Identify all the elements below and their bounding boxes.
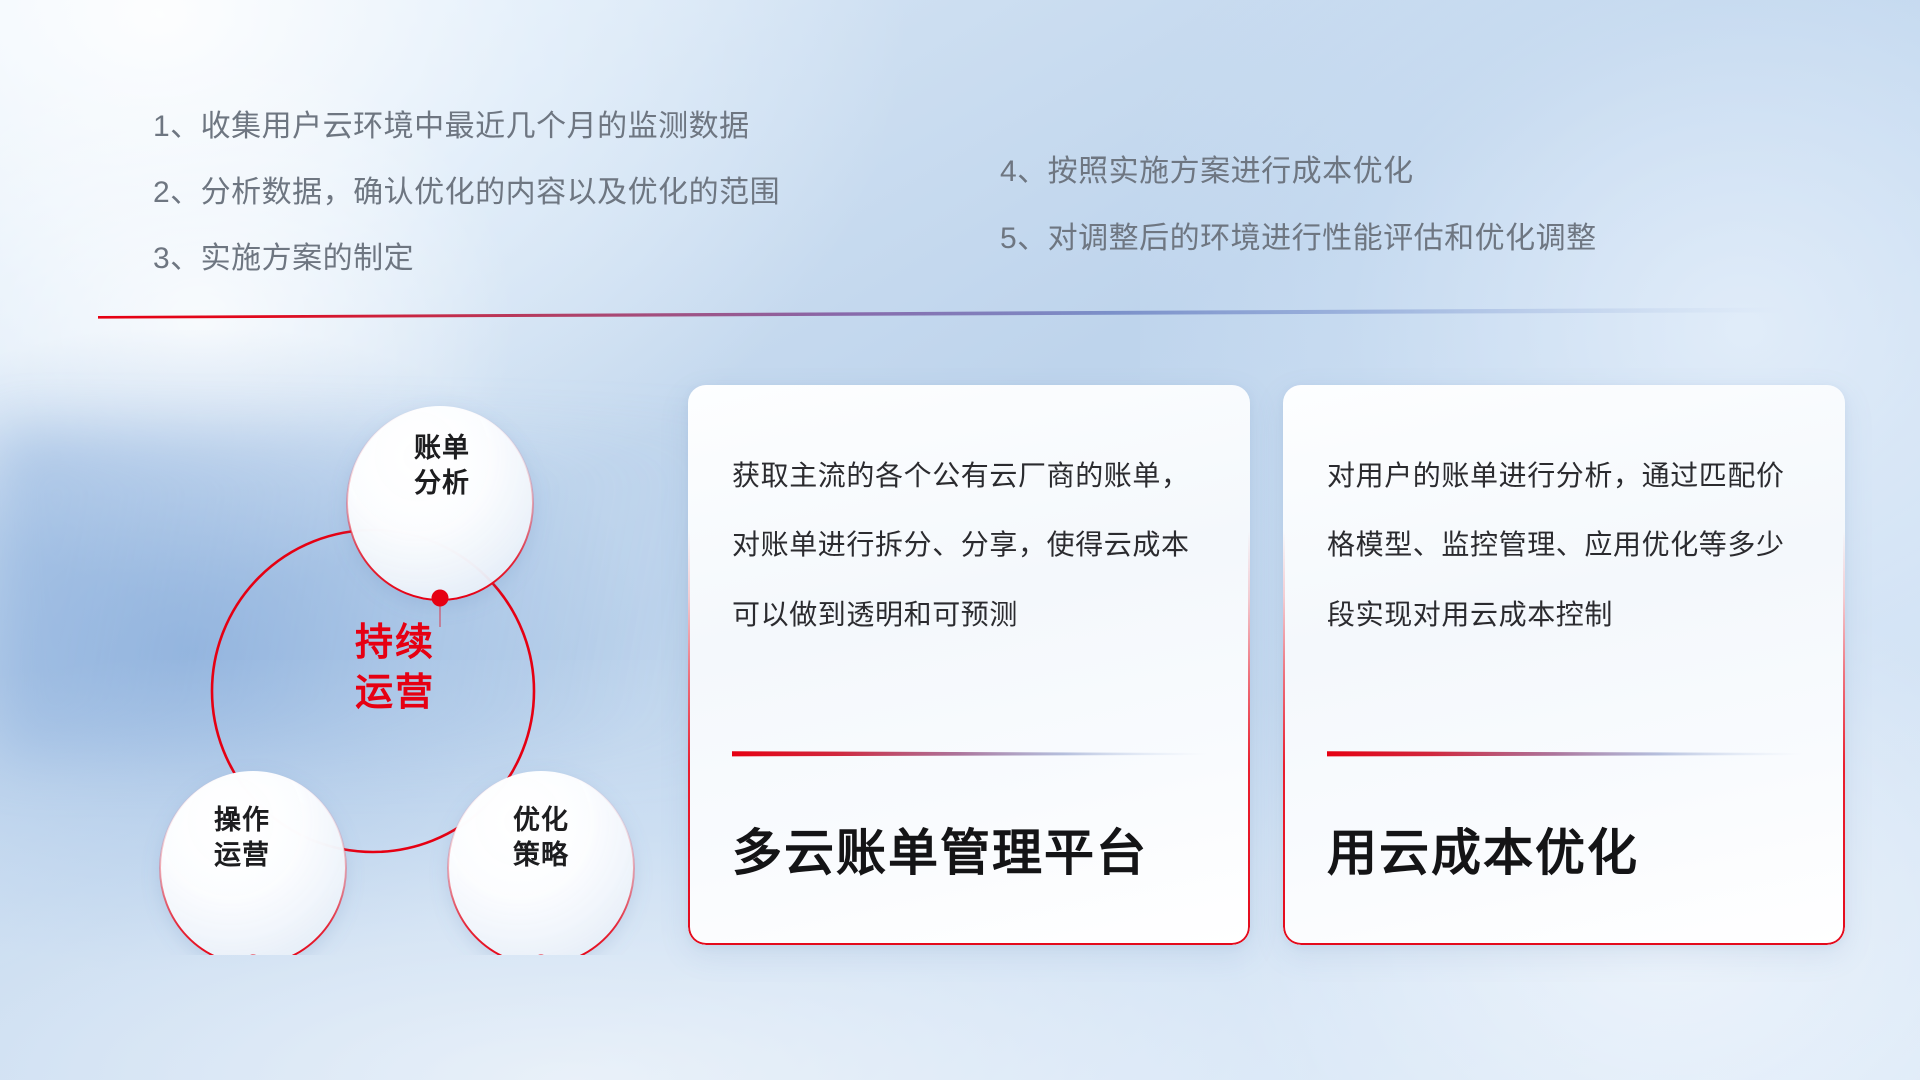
venn-node-bill-analysis[interactable]: 账单 分析 xyxy=(347,431,537,501)
card-title: 多云账单管理平台 xyxy=(732,813,1148,885)
card-body-text: 对用户的账单进行分析，通过匹配价格模型、监控管理、应用优化等多少段实现对用云成本… xyxy=(1327,441,1801,649)
section-divider xyxy=(98,305,1788,319)
step-item-1: 1、收集用户云环境中最近几个月的监测数据 xyxy=(153,112,780,142)
step-item-4: 4、按照实施方案进行成本优化 xyxy=(1000,157,1597,187)
steps-list-right: 4、按照实施方案进行成本优化 5、对调整后的环境进行性能评估和优化调整 xyxy=(1000,157,1597,291)
steps-list-left: 1、收集用户云环境中最近几个月的监测数据 2、分析数据，确认优化的内容以及优化的… xyxy=(153,112,780,310)
venn-node-optimize-strategy[interactable]: 优化 策略 xyxy=(446,803,636,873)
step-item-5: 5、对调整后的环境进行性能评估和优化调整 xyxy=(1000,224,1597,254)
continuous-operation-diagram: 账单 分析 操作 运营 优化 策略 持续 运营 xyxy=(95,355,655,955)
feature-card-multi-cloud-billing-platform[interactable]: 获取主流的各个公有云厂商的账单，对账单进行拆分、分享，使得云成本可以做到透明和可… xyxy=(688,385,1250,945)
card-body-text: 获取主流的各个公有云厂商的账单，对账单进行拆分、分享，使得云成本可以做到透明和可… xyxy=(732,441,1206,649)
step-item-2: 2、分析数据，确认优化的内容以及优化的范围 xyxy=(153,178,780,208)
venn-center-label: 持续 运营 xyxy=(290,618,500,718)
venn-node-operation-ops[interactable]: 操作 运营 xyxy=(147,803,337,873)
card-title: 用云成本优化 xyxy=(1327,813,1639,885)
feature-card-list: 获取主流的各个公有云厂商的账单，对账单进行拆分、分享，使得云成本可以做到透明和可… xyxy=(688,385,1845,945)
card-accent-rule xyxy=(732,750,1206,757)
slide-content: 1、收集用户云环境中最近几个月的监测数据 2、分析数据，确认优化的内容以及优化的… xyxy=(0,0,1920,1080)
step-item-3: 3、实施方案的制定 xyxy=(153,244,780,274)
card-accent-rule xyxy=(1327,750,1801,757)
feature-card-cloud-cost-optimization[interactable]: 对用户的账单进行分析，通过匹配价格模型、监控管理、应用优化等多少段实现对用云成本… xyxy=(1283,385,1845,945)
